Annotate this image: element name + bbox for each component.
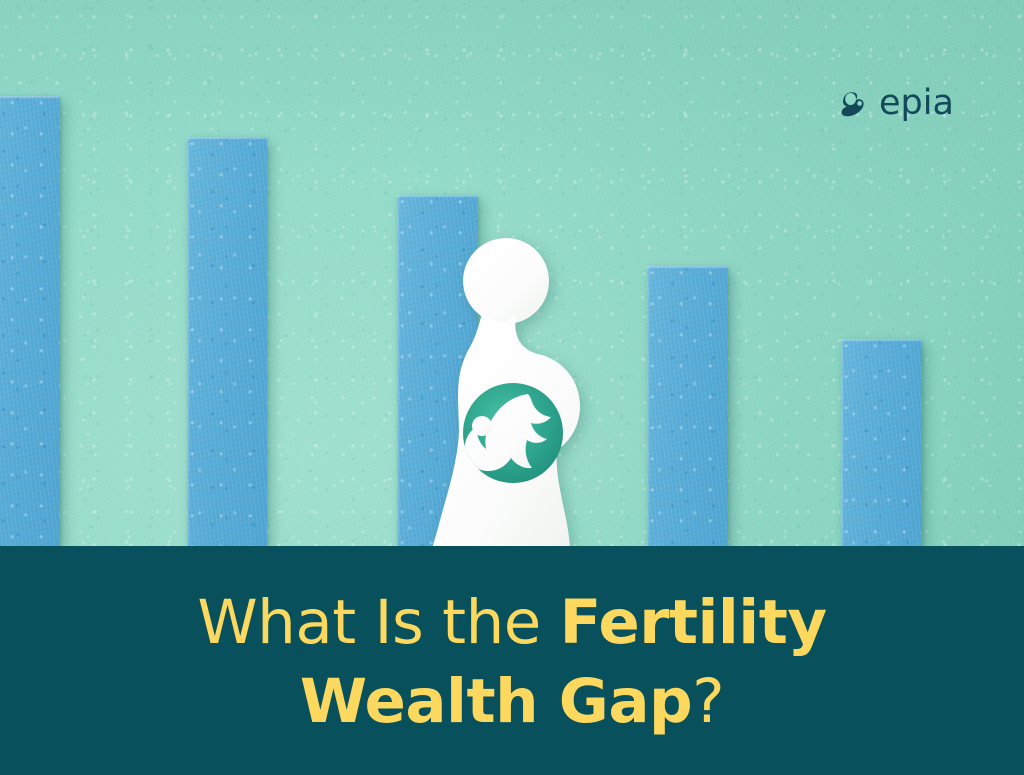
title-line-2-bold: Wealth Gap (300, 666, 692, 737)
title-band: What Is the Fertility Wealth Gap? (0, 546, 1024, 775)
chart-bar-1 (0, 96, 60, 546)
title-line-1-bold: Fertility (560, 587, 827, 658)
womb-cutout (463, 383, 563, 483)
chart-bar-5 (841, 339, 922, 546)
title-line-1: What Is the Fertility (197, 584, 826, 662)
chart-bar-2 (187, 137, 267, 546)
egg-and-sperm-icon (840, 91, 870, 117)
title-line-2: Wealth Gap? (300, 663, 724, 741)
brand-wordmark: epia (879, 86, 954, 121)
title-line-2-regular: ? (692, 666, 724, 737)
brand-logo[interactable]: epia (840, 84, 954, 124)
pregnant-woman-figure (420, 228, 610, 550)
chart-bar-4 (647, 266, 728, 546)
poster-canvas: epia What Is the Fertility Wealth Gap? (0, 0, 1024, 775)
title-line-1-regular: What Is the (197, 587, 559, 658)
